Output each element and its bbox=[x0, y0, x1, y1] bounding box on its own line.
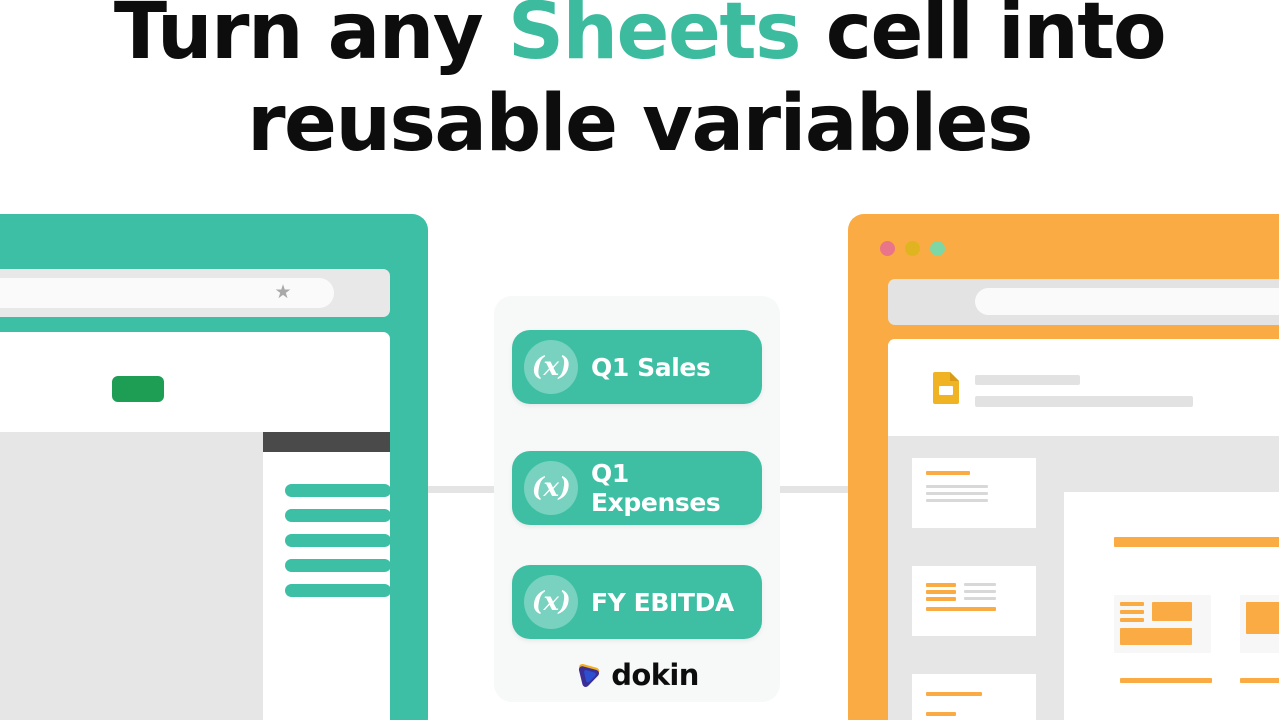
sheets-browser-card: ★ dokin bbox=[0, 214, 428, 720]
share-button[interactable] bbox=[112, 376, 164, 402]
headline-line-2: reusable variables bbox=[0, 78, 1279, 170]
close-dot-icon[interactable] bbox=[880, 241, 895, 256]
doc-title-placeholder bbox=[975, 375, 1080, 385]
promo-graphic: Turn any Sheets cell into reusable varia… bbox=[0, 0, 1279, 720]
list-item[interactable] bbox=[285, 559, 390, 572]
variables-sidebar-list bbox=[285, 484, 390, 609]
minimize-dot-icon[interactable] bbox=[905, 241, 920, 256]
connector-line-right bbox=[775, 486, 853, 493]
slides-browser-card bbox=[848, 214, 1279, 720]
connector-line-left bbox=[425, 486, 503, 493]
url-bar[interactable]: ★ bbox=[0, 278, 334, 308]
variable-pill-fy-ebitda[interactable]: (x) FY EBITDA bbox=[512, 565, 762, 639]
headline-line-1-before: Turn any bbox=[114, 0, 508, 77]
slide-title-block bbox=[1114, 537, 1279, 547]
window-traffic-lights bbox=[880, 241, 945, 256]
variable-pill-q1-expenses[interactable]: (x) Q1 Expenses bbox=[512, 451, 762, 525]
variables-card: (x) Q1 Sales (x) Q1 Expenses (x) FY EBIT… bbox=[494, 296, 780, 702]
headline-accent-word: Sheets bbox=[508, 0, 800, 77]
spreadsheet-grid-pane bbox=[0, 432, 263, 720]
variable-x-icon: (x) bbox=[524, 461, 578, 515]
list-item[interactable] bbox=[285, 484, 390, 497]
list-item[interactable] bbox=[285, 509, 390, 522]
variable-x-icon: (x) bbox=[524, 575, 578, 629]
list-item[interactable] bbox=[285, 584, 390, 597]
headline-line-1-after: cell into bbox=[800, 0, 1165, 77]
slide-thumbnail[interactable] bbox=[912, 674, 1036, 720]
list-item[interactable] bbox=[285, 534, 390, 547]
slide-editing-canvas[interactable] bbox=[1064, 492, 1279, 720]
slides-doc-header bbox=[888, 339, 1279, 436]
browser-toolbar bbox=[888, 279, 1279, 325]
dokin-wordmark: dokin bbox=[611, 658, 699, 692]
variable-pill-q1-sales[interactable]: (x) Q1 Sales bbox=[512, 330, 762, 404]
caption-block bbox=[1120, 678, 1212, 683]
doc-subtitle-placeholder bbox=[975, 396, 1193, 407]
variable-label: FY EBITDA bbox=[591, 588, 734, 617]
slides-workspace bbox=[888, 436, 1279, 720]
slide-thumbnail[interactable] bbox=[912, 566, 1036, 636]
dokin-mark-icon bbox=[575, 662, 602, 689]
maximize-dot-icon[interactable] bbox=[930, 241, 945, 256]
sheets-app-body: dokin bbox=[0, 332, 390, 720]
browser-toolbar: ★ bbox=[0, 269, 390, 317]
bookmark-star-icon[interactable]: ★ bbox=[274, 284, 292, 302]
dokin-logo-center: dokin bbox=[494, 658, 780, 692]
google-slides-file-icon bbox=[933, 372, 959, 404]
variable-x-icon: (x) bbox=[524, 340, 578, 394]
sidebar-header-bar bbox=[263, 432, 390, 452]
slides-app-body bbox=[888, 339, 1279, 720]
slide-thumbnail[interactable] bbox=[912, 458, 1036, 528]
variable-label: Q1 Expenses bbox=[591, 459, 762, 517]
caption-block bbox=[1240, 678, 1279, 683]
url-bar[interactable] bbox=[975, 288, 1279, 315]
variable-label: Q1 Sales bbox=[591, 353, 710, 382]
page-title: Turn any Sheets cell into reusable varia… bbox=[0, 0, 1279, 170]
